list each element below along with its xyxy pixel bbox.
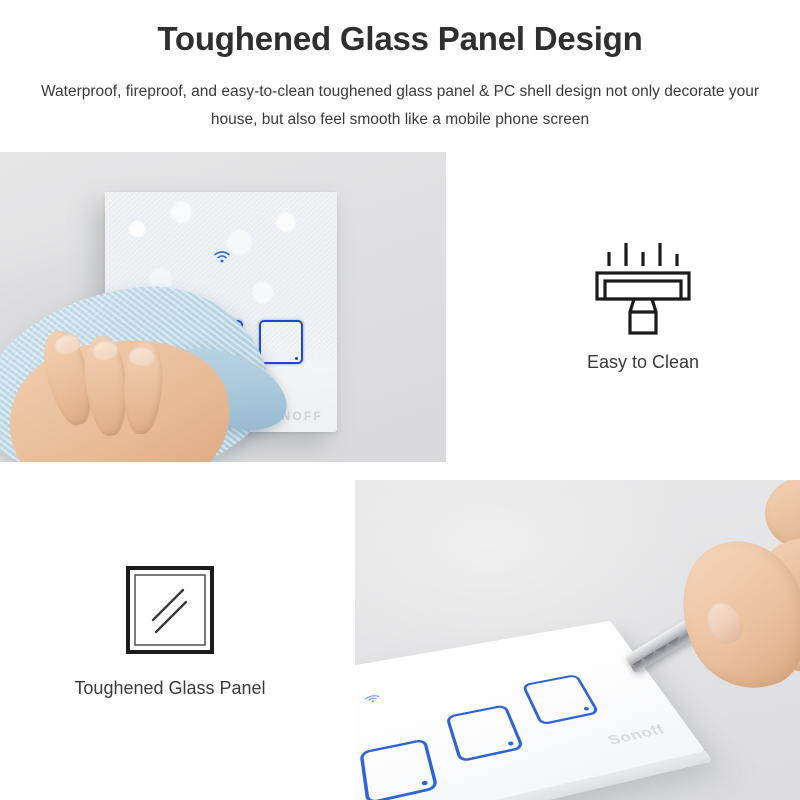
touch-button-3[interactable] [521,674,600,726]
feature-easy-to-clean: Easy to Clean [503,240,783,374]
feature-caption: Toughened Glass Panel [30,676,310,700]
page-title: Toughened Glass Panel Design [0,18,800,60]
photo-scratch-test: Sonoff [355,480,800,800]
fingernail-3 [128,345,155,366]
brand-logo: Sonoff [605,722,669,749]
squeegee-icon [503,240,783,336]
indicator-dot [295,357,299,361]
wifi-icon [364,693,381,704]
subtitle-line-1: Waterproof, fireproof, and easy-to-clean… [41,83,660,100]
indicator-dot [583,707,590,711]
wifi-icon [213,250,231,264]
feature-caption: Easy to Clean [503,350,783,374]
touch-button-3[interactable] [259,320,303,364]
page-subtitle: Waterproof, fireproof, and easy-to-clean… [30,78,770,134]
product-feature-page: Toughened Glass Panel Design Waterproof,… [0,0,800,800]
feature-toughened-glass: Toughened Glass Panel [30,560,310,700]
touch-button-1[interactable] [359,738,438,800]
touch-button-2[interactable] [445,704,524,762]
photo-cleaning-switch: SONOFF [0,152,446,462]
glass-pane-icon [30,560,310,660]
indicator-dot [421,780,428,786]
indicator-dot [507,741,514,746]
